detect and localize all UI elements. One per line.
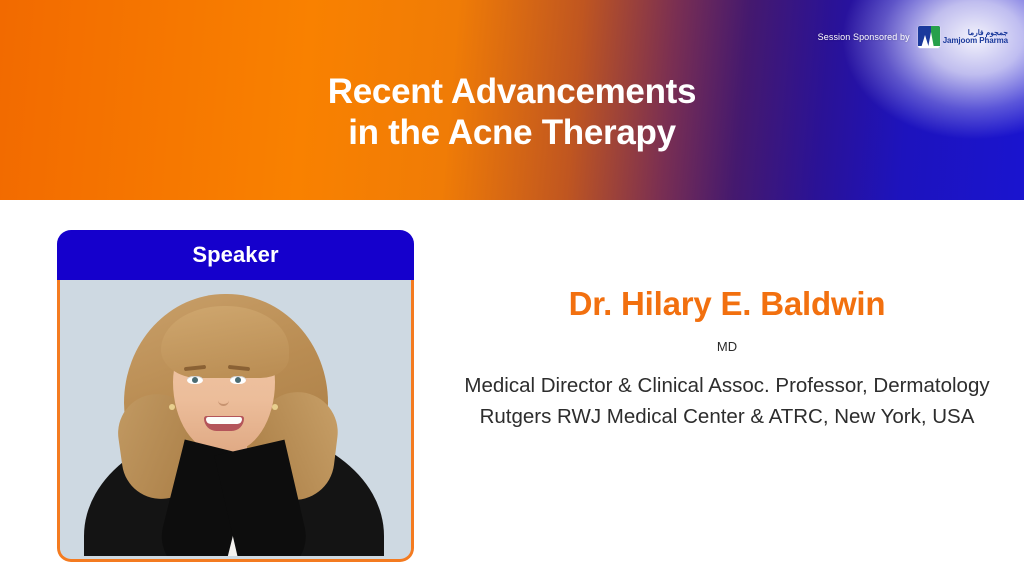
- speaker-badge: Speaker: [57, 230, 414, 280]
- speaker-affiliation: Medical Director & Clinical Assoc. Profe…: [452, 370, 1002, 432]
- header-banner: Session Sponsored by جمجوم فارما Jamjoom…: [0, 0, 1024, 200]
- speaker-degree: MD: [430, 339, 1024, 354]
- speaker-info: Dr. Hilary E. Baldwin MD Medical Directo…: [430, 200, 1024, 576]
- sponsor-label: Session Sponsored by: [818, 32, 910, 42]
- sponsor-logo-name: Jamjoom Pharma: [943, 37, 1008, 45]
- sponsor-logo-wordmark: جمجوم فارما Jamjoom Pharma: [943, 29, 1008, 46]
- slide-body: Speaker: [0, 200, 1024, 576]
- jamjoom-pharma-mountain-mark-icon: [918, 26, 940, 48]
- speaker-portrait-photo: [60, 274, 411, 556]
- title-line-1: Recent Advancements: [0, 72, 1024, 113]
- speaker-badge-label: Speaker: [192, 242, 278, 268]
- sponsor-logo-arabic: جمجوم فارما: [943, 29, 1008, 37]
- sponsor-logo: جمجوم فارما Jamjoom Pharma: [918, 26, 1008, 48]
- presentation-slide: Session Sponsored by جمجوم فارما Jamjoom…: [0, 0, 1024, 576]
- speaker-name: Dr. Hilary E. Baldwin: [430, 285, 1024, 323]
- speaker-card: Speaker: [57, 230, 414, 562]
- title-line-2: in the Acne Therapy: [0, 113, 1024, 154]
- speaker-photo-frame: [57, 274, 414, 562]
- sponsor-block: Session Sponsored by جمجوم فارما Jamjoom…: [818, 26, 1008, 48]
- page-title: Recent Advancements in the Acne Therapy: [0, 72, 1024, 154]
